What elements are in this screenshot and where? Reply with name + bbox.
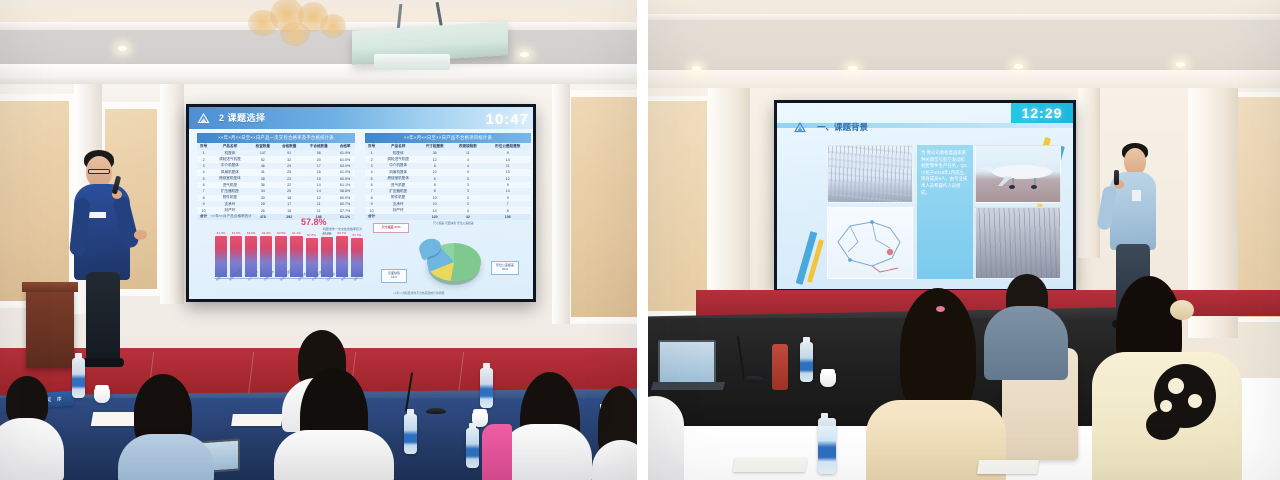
clock-left: 10:47 xyxy=(486,111,529,128)
table-header-cell: 序号 xyxy=(365,143,378,150)
presenter-head xyxy=(1124,148,1146,175)
podium xyxy=(26,288,74,368)
ceiling-downlight xyxy=(1176,62,1185,67)
mountain-logo-icon xyxy=(197,112,213,124)
chandelier xyxy=(246,0,352,50)
paper-stack xyxy=(231,414,283,426)
table-header-cell: 表面缺陷数 xyxy=(451,143,484,150)
ceiling-downlight xyxy=(118,46,127,51)
route-diagram-svg xyxy=(828,208,913,279)
aircraft-turboprop-photo xyxy=(975,145,1061,203)
pie-callout-top: 尺寸超差 31% xyxy=(373,223,409,233)
bar-column: 60.0% xyxy=(321,231,333,277)
clock-right-box: 12:29 xyxy=(1011,103,1073,123)
table-cell: 42 xyxy=(451,214,484,220)
factory-workshop-photo xyxy=(827,145,913,203)
wall-panel xyxy=(566,92,637,322)
projection-screen-right: 12:29 一、课题背景 xyxy=(774,100,1076,292)
ceiling-downlight xyxy=(692,66,701,71)
laptop-base xyxy=(651,382,725,390)
paper-sheet xyxy=(977,460,1039,474)
data-table-right: ××年×月××日至××日产品不合格项目统计表 序号产品名称尺寸超差数表面缺陷数形… xyxy=(365,133,531,220)
projection-screen-left: 2 课题选择 10:47 ××年×月××日至××日产品一次交检合格率及不合格统计… xyxy=(186,104,536,302)
table-header-cell: 形位公差超差数 xyxy=(484,143,531,150)
projector-body xyxy=(374,54,450,70)
bar-value-label: 60.5% xyxy=(277,231,286,235)
presenter-legs xyxy=(86,272,120,364)
presenter-glasses xyxy=(88,169,110,174)
bar xyxy=(306,238,318,277)
table-cell: 合计 xyxy=(197,214,210,220)
technical-route-diagram xyxy=(827,207,913,279)
water-bottle xyxy=(404,414,417,454)
water-bottle xyxy=(466,428,479,468)
ceiling-downlight xyxy=(1014,64,1023,69)
bar-value-label: 61.5% xyxy=(232,231,241,235)
slide-canvas-right: 12:29 一、课题背景 xyxy=(777,103,1073,289)
pie-callout-left: 表面缺陷 19% xyxy=(381,269,407,283)
desk-microphone-base xyxy=(744,376,764,382)
bar-value-label: 61.1% xyxy=(292,231,301,235)
data-table-left: ××年×月××日至××日产品一次交检合格率及不合格统计表 序号产品名称检查数量合… xyxy=(197,133,355,220)
table-caption: ××年×月××日至××日产品不合格项目统计表 xyxy=(365,133,531,143)
paper-sheet xyxy=(733,458,807,472)
wall-pilaster xyxy=(552,84,570,324)
teacup xyxy=(94,388,110,403)
microphone-handheld xyxy=(1114,170,1119,185)
pie-callout-right: 形位公差超差 50% xyxy=(491,261,519,275)
audience-person xyxy=(118,434,214,480)
table-header-cell: 尺寸超差数 xyxy=(418,143,451,150)
tshirt-graphic-cut xyxy=(1188,394,1202,408)
conference-room-left: 2 课题选择 10:47 ××年×月××日至××日产品一次交检合格率及不合格统计… xyxy=(0,0,637,480)
bar xyxy=(351,238,363,277)
table-header-cell: 合格率 xyxy=(335,143,355,150)
wall-pilaster xyxy=(160,84,184,304)
wall-panel xyxy=(1232,92,1280,322)
bar-chart-label: ××年××月产品合格率统计 xyxy=(211,214,252,219)
photo-gutter xyxy=(637,0,648,480)
slide-canvas-left: 2 课题选择 10:47 ××年×月××日至××日产品一次交检合格率及不合格统计… xyxy=(189,107,533,299)
water-bottle xyxy=(818,418,836,474)
table-cell: 120 xyxy=(418,214,451,220)
audience-person xyxy=(500,424,592,480)
table-cell xyxy=(378,214,418,220)
laptop[interactable] xyxy=(658,340,716,384)
ceiling-mid xyxy=(648,20,1280,74)
audience-person xyxy=(274,430,394,480)
bar-value-label: 61.0% xyxy=(262,231,271,235)
table-header-cell: 不合格数量 xyxy=(302,143,335,150)
wall-pilaster xyxy=(1078,88,1100,258)
presenter-badge xyxy=(88,212,106,218)
bar-chart: ××年××月产品合格率统计 61.9%61.5%63.0%61.0%60.5%6… xyxy=(211,219,363,291)
conference-room-right: 12:29 一、课题背景 xyxy=(648,0,1280,480)
desk-microphone-base xyxy=(426,408,446,414)
tshirt-graphic-cut xyxy=(1160,400,1172,412)
presenter-hand-clicker xyxy=(134,230,147,240)
bar-value-label: 61.9% xyxy=(217,231,226,235)
table-header-cell: 产品名称 xyxy=(378,143,418,150)
bar-chart-highlight: 57.8% xyxy=(301,217,327,227)
ceiling-downlight xyxy=(848,66,857,71)
audience-person xyxy=(984,306,1068,380)
podium-top xyxy=(22,282,78,292)
table-header-cell: 产品名称 xyxy=(210,143,250,150)
wall-panel xyxy=(0,96,74,306)
thermos-bottle xyxy=(772,344,788,390)
presentation-photo-right: 12:29 一、课题背景 xyxy=(648,0,1280,480)
bar-column: 60.7% xyxy=(336,231,348,277)
bar xyxy=(321,237,333,277)
audience-person-pink-sleeve xyxy=(482,424,512,480)
slide-body-text: 为 我公司承担着国家某种关键型号航空发动机机匣零件生产任务，QC小组于2019年… xyxy=(917,145,973,279)
slide-title-left: 2 课题选择 xyxy=(219,111,266,124)
wall-panel xyxy=(648,96,712,316)
pie-legend: 尺寸超差 表面缺陷 形位公差超差 xyxy=(433,221,474,225)
bar-column: 57.7% xyxy=(351,231,363,277)
table-cell: 106 xyxy=(484,214,531,220)
table-cell: 合计 xyxy=(365,214,378,220)
bar-column: 57.8% xyxy=(306,231,318,277)
bar-chart-tick-labels: 机匣体涡轮进气机匣中介机匣体风扇机匣体燃烧室机匣体进气机匣扩压器机匣附件机匣支承… xyxy=(215,279,363,291)
audience-person xyxy=(648,396,684,480)
presenter-shoes xyxy=(82,358,124,367)
tshirt-graphic-cut xyxy=(1168,378,1184,394)
bar-chart-highlight-note: 机匣零件一次交检合格率仅为57.8% xyxy=(323,227,369,235)
aircraft-svg xyxy=(976,146,1061,203)
water-bottle xyxy=(800,342,813,382)
slide-title-right: 一、课题背景 xyxy=(817,121,868,133)
crown-molding xyxy=(0,64,637,86)
engine-casing-photo xyxy=(975,207,1061,279)
clock-right: 12:29 xyxy=(1011,105,1073,121)
water-bottle xyxy=(72,358,85,398)
table-header-cell: 合格数量 xyxy=(276,143,302,150)
table-header-cell: 序号 xyxy=(197,143,210,150)
table-caption: ××年×月××日至××日产品一次交检合格率及不合格统计表 xyxy=(197,133,355,143)
water-bottle xyxy=(480,368,493,408)
teacup xyxy=(820,372,836,387)
hair-clip xyxy=(936,306,945,312)
presenter-badge xyxy=(1132,190,1141,201)
bar-value-label: 57.8% xyxy=(307,233,316,237)
table-row: 合计12042106 xyxy=(365,214,531,220)
hair-scrunchie xyxy=(1170,300,1194,320)
tshirt-graphic xyxy=(1146,410,1180,440)
bar-column: 61.9% xyxy=(215,231,227,277)
two-photo-composite: 2 课题选择 10:47 ××年×月××日至××日产品一次交检合格率及不合格统计… xyxy=(0,0,1280,480)
mountain-logo-icon xyxy=(793,121,810,133)
bar-value-label: 63.0% xyxy=(247,231,256,235)
ceiling-downlight xyxy=(520,52,529,57)
pie-chart: 尺寸超差 表面缺陷 形位公差超差 尺寸超差 31% 表面缺陷 19% 形位公差超… xyxy=(375,225,531,299)
pie-footer: ××年××月机匣零件不合格项目统计饼状图 xyxy=(393,291,444,295)
table-header-cell: 检查数量 xyxy=(250,143,276,150)
presentation-photo-left: 2 课题选择 10:47 ××年×月××日至××日产品一次交检合格率及不合格统计… xyxy=(0,0,637,480)
